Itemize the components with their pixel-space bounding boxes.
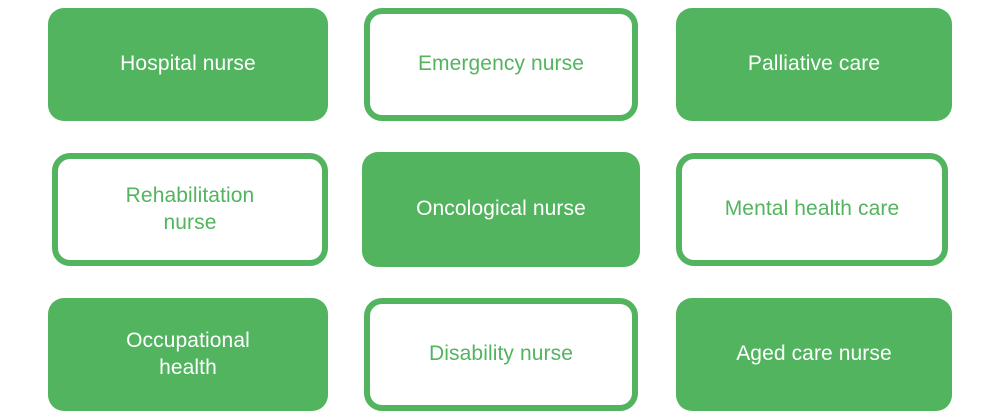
card-palliative-care[interactable]: Palliative care — [676, 8, 952, 121]
card-label: Emergency nurse — [418, 51, 584, 78]
card-label: Hospital nurse — [120, 51, 256, 78]
card-emergency-nurse[interactable]: Emergency nurse — [364, 8, 638, 121]
card-aged-care-nurse[interactable]: Aged care nurse — [676, 298, 952, 411]
card-disability-nurse[interactable]: Disability nurse — [364, 298, 638, 411]
card-hospital-nurse[interactable]: Hospital nurse — [48, 8, 328, 121]
card-label: Aged care nurse — [736, 341, 892, 368]
card-label: Rehabilitation nurse — [126, 183, 255, 237]
card-label: Disability nurse — [429, 341, 573, 368]
card-label: Oncological nurse — [416, 196, 586, 223]
card-label: Occupational health — [126, 328, 250, 382]
card-grid: Hospital nurse Emergency nurse Palliativ… — [0, 0, 1000, 417]
card-mental-health-care[interactable]: Mental health care — [676, 153, 948, 266]
card-occupational-health[interactable]: Occupational health — [48, 298, 328, 411]
card-oncological-nurse[interactable]: Oncological nurse — [362, 152, 640, 267]
card-label: Mental health care — [725, 196, 900, 223]
card-label: Palliative care — [748, 51, 880, 78]
card-rehabilitation-nurse[interactable]: Rehabilitation nurse — [52, 153, 328, 266]
